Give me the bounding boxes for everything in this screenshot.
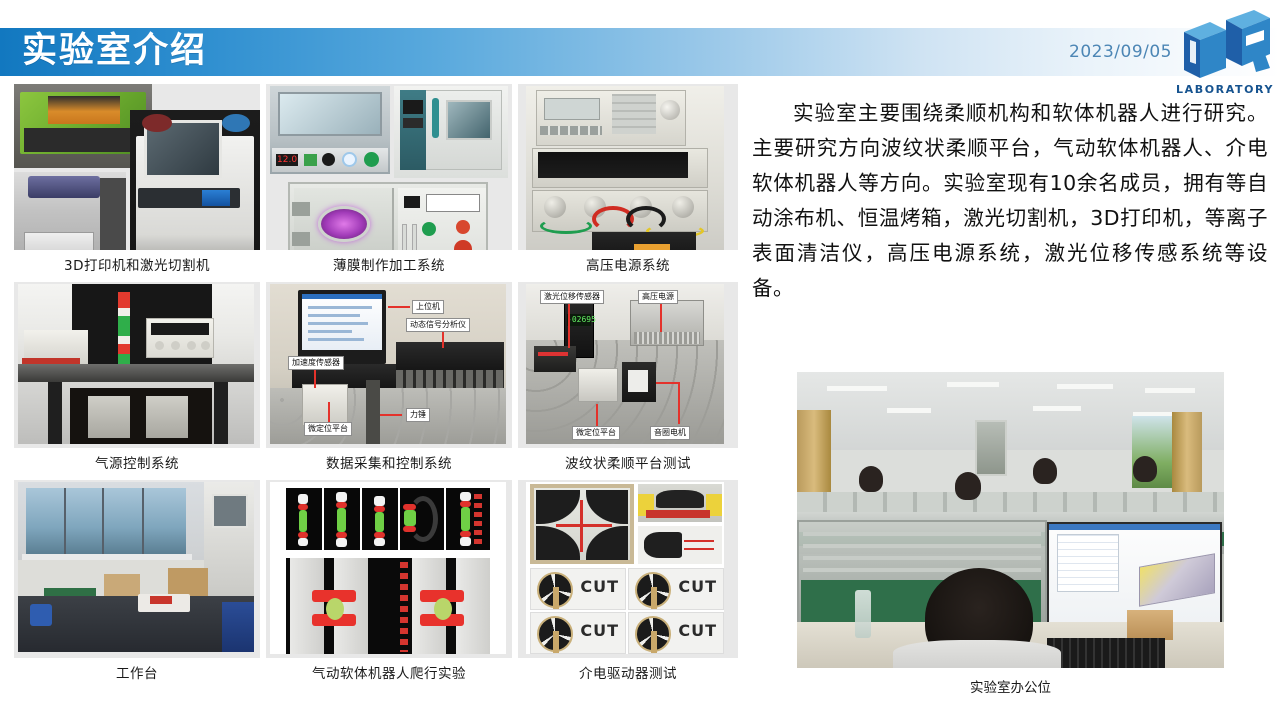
equipment-gallery: 3D打印机和激光切割机 12.0 <box>14 84 740 692</box>
photo-instrument-stack <box>526 86 724 250</box>
gallery-caption: 高压电源系统 <box>518 254 738 274</box>
gallery-caption: 薄膜制作加工系统 <box>266 254 512 274</box>
photo-air-source-control <box>14 282 260 448</box>
gallery-item-film-fabrication[interactable]: 12.0 薄膜制作加工系统 <box>266 84 512 274</box>
ir-laboratory-logo: LABORATORY <box>1176 6 1272 98</box>
ir-logo-icon <box>1176 6 1272 84</box>
annotation-impact-hammer: 力锤 <box>406 408 430 422</box>
gallery-item-3d-printer-laser-cutter[interactable]: 3D打印机和激光切割机 <box>14 84 260 274</box>
photo-3d-printer-laser-cutter <box>14 84 260 250</box>
cut-frame: CUT <box>530 612 626 654</box>
page-title: 实验室介绍 <box>22 22 207 80</box>
photo-data-acquisition: 上位机 动态信号分析仪 加速度传感器 微定位平台 力锤 <box>266 282 512 448</box>
gallery-item-corrugated-platform-test[interactable]: -02695 激光位移传感器 高压电源 微定位平台 音圈电机 波纹状柔顺平台测试 <box>518 282 738 472</box>
photo-film-fabrication: 12.0 <box>266 84 512 250</box>
photo-daq-setup: 上位机 动态信号分析仪 加速度传感器 微定位平台 力锤 <box>270 284 506 444</box>
intro-paragraph: 实验室主要围绕柔顺机构和软体机器人进行研究。主要研究方向波纹状柔顺平台，气动软体… <box>752 96 1268 306</box>
gallery-item-pneumatic-crawling[interactable]: 气动软体机器人爬行实验 <box>266 480 512 692</box>
annotation-micro-stage: 微定位平台 <box>572 426 620 440</box>
slide: 实验室介绍 2023/09/05 LABORATORY <box>0 0 1280 720</box>
photo-industrial-3d-printer <box>14 172 126 250</box>
gallery-caption: 3D打印机和激光切割机 <box>14 254 260 274</box>
gallery-caption: 数据采集和控制系统 <box>266 452 512 472</box>
photo-lab-bench <box>18 482 254 652</box>
gallery-item-hv-power-system[interactable]: 高压电源系统 <box>518 84 738 274</box>
photo-workbench <box>14 480 260 658</box>
annotation-voice-coil-motor: 音圈电机 <box>650 426 690 440</box>
photo-coating-machine: 12.0 <box>270 86 390 174</box>
gallery-item-dielectric-actuator-test[interactable]: CUT CUT CUT CUT 介电驱动器测试 <box>518 480 738 692</box>
photo-dielectric-actuator-test: CUT CUT CUT CUT <box>518 480 738 658</box>
annotation-accelerometer: 加速度传感器 <box>288 356 344 370</box>
photo-plasma-cleaner <box>288 182 488 250</box>
office-water-bottle <box>855 590 871 638</box>
annotation-laser-displacement-sensor: 激光位移传感器 <box>540 290 604 304</box>
photo-hv-power-system <box>518 84 738 250</box>
photo-corrugated-platform-test: -02695 激光位移传感器 高压电源 微定位平台 音圈电机 <box>518 282 738 448</box>
annotation-signal-analyzer: 动态信号分析仪 <box>406 318 470 332</box>
gallery-caption: 介电驱动器测试 <box>518 662 738 682</box>
photo-platform-rig: -02695 激光位移传感器 高压电源 微定位平台 音圈电机 <box>526 284 724 444</box>
office-keyboard <box>1047 638 1165 668</box>
cut-frame: CUT <box>530 568 626 610</box>
photo-crawl-frames <box>270 482 506 654</box>
photo-drying-oven <box>394 86 508 178</box>
cut-frame: CUT <box>628 612 724 654</box>
office-caption: 实验室办公位 <box>797 676 1224 696</box>
gallery-item-data-acquisition[interactable]: 上位机 动态信号分析仪 加速度传感器 微定位平台 力锤 数据采集和控制系统 <box>266 282 512 472</box>
gallery-caption: 波纹状柔顺平台测试 <box>518 452 738 472</box>
photo-desktop-3d-printer <box>130 110 260 250</box>
cut-frame: CUT <box>628 568 724 610</box>
office-door <box>975 420 1007 476</box>
laser-sensor-readout: -02695 <box>567 314 591 326</box>
gallery-caption: 工作台 <box>14 662 260 682</box>
header-date: 2023/09/05 <box>1069 42 1172 62</box>
photo-pneumatic-crawling <box>266 480 512 658</box>
annotation-host-computer: 上位机 <box>412 300 444 314</box>
annotation-micro-positioning-stage: 微定位平台 <box>304 422 352 436</box>
intro-text-block: 实验室主要围绕柔顺机构和软体机器人进行研究。主要研究方向波纹状柔顺平台，气动软体… <box>752 96 1268 306</box>
gallery-item-air-source-control[interactable]: 气源控制系统 <box>14 282 260 472</box>
photo-air-control-rig <box>18 284 254 444</box>
photo-actuator-frames: CUT CUT CUT CUT <box>526 482 724 654</box>
gallery-caption: 气动软体机器人爬行实验 <box>266 662 512 682</box>
photo-laboratory-office[interactable] <box>797 372 1224 668</box>
logo-wordmark: LABORATORY <box>1176 83 1272 96</box>
gallery-item-workbench[interactable]: 工作台 <box>14 480 260 692</box>
gallery-caption: 气源控制系统 <box>14 452 260 472</box>
annotation-high-voltage-supply: 高压电源 <box>638 290 678 304</box>
